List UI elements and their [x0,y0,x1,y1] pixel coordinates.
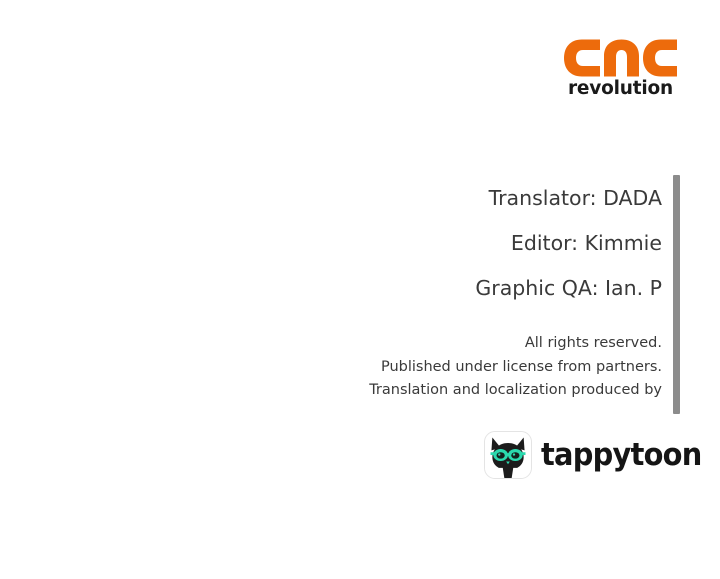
rights-line-localization: Translation and localization produced by [300,379,662,403]
vertical-scrollbar-track[interactable] [706,0,720,579]
rights-line-all-rights: All rights reserved. [300,332,662,356]
publisher-logo-wordmark: revolution [563,78,678,100]
tappytoon-cat-icon [484,431,532,479]
viewer-page: revolution Translator: DADA Editor: Kimm… [0,0,720,579]
cnc-wordmark-icon [563,38,678,78]
credits-block: Translator: DADA Editor: Kimmie Graphic … [300,176,662,311]
credit-line-editor: Editor: Kimmie [300,221,662,266]
vertical-scrollbar-thumb[interactable] [673,175,680,414]
rights-line-license: Published under license from partners. [300,356,662,380]
rights-block: All rights reserved. Published under lic… [300,332,662,403]
platform-logo-wordmark: tappytoon [541,438,702,472]
platform-logo: tappytoon [484,430,714,480]
credit-line-graphic-qa: Graphic QA: Ian. P [300,266,662,311]
publisher-logo: revolution [563,38,678,103]
credit-line-translator: Translator: DADA [300,176,662,221]
